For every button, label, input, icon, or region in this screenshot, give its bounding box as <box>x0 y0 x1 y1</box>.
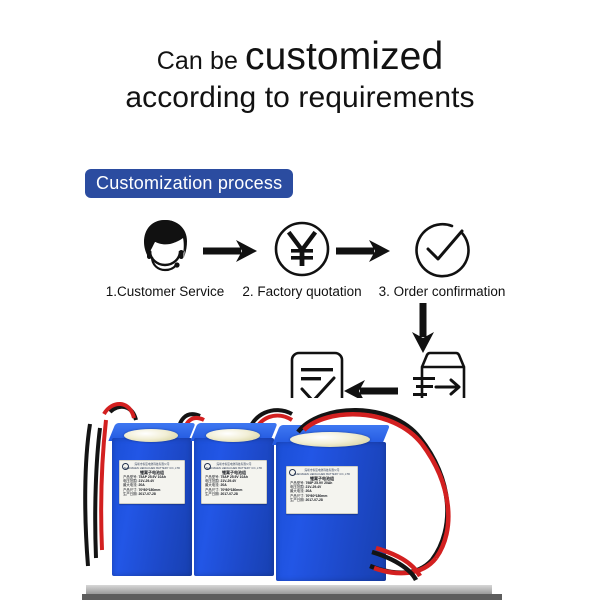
page-title-line1-emphasis: customized <box>245 35 443 78</box>
page-title-line1-prefix: Can be <box>157 47 245 75</box>
process-step-1-label: 1.Customer Service <box>95 284 235 299</box>
process-step-2-label: 2. Factory quotation <box>232 284 372 299</box>
arrow-step1-to-step2-icon <box>203 238 261 264</box>
page-title-line1: Can be customized <box>0 34 600 79</box>
section-banner-customization-process: Customization process <box>85 169 293 198</box>
process-step-3-label: 3. Order confirmation <box>367 284 517 299</box>
arrow-step3-to-step4-icon <box>410 303 436 355</box>
page-root: Can be customized according to requireme… <box>0 0 600 600</box>
photo-shelf-surface <box>86 585 492 594</box>
photo-shelf-edge <box>82 594 502 600</box>
page-title: Can be customized according to requireme… <box>0 34 600 116</box>
product-photo-battery-packs: 深圳市恒辰电池科技有限公司 SHENZHEN HENGCHEN BATTERY … <box>60 398 540 600</box>
arrow-step2-to-step3-icon <box>336 238 394 264</box>
battery-wires-front <box>60 398 540 600</box>
page-title-line2: according to requirements <box>0 81 600 116</box>
